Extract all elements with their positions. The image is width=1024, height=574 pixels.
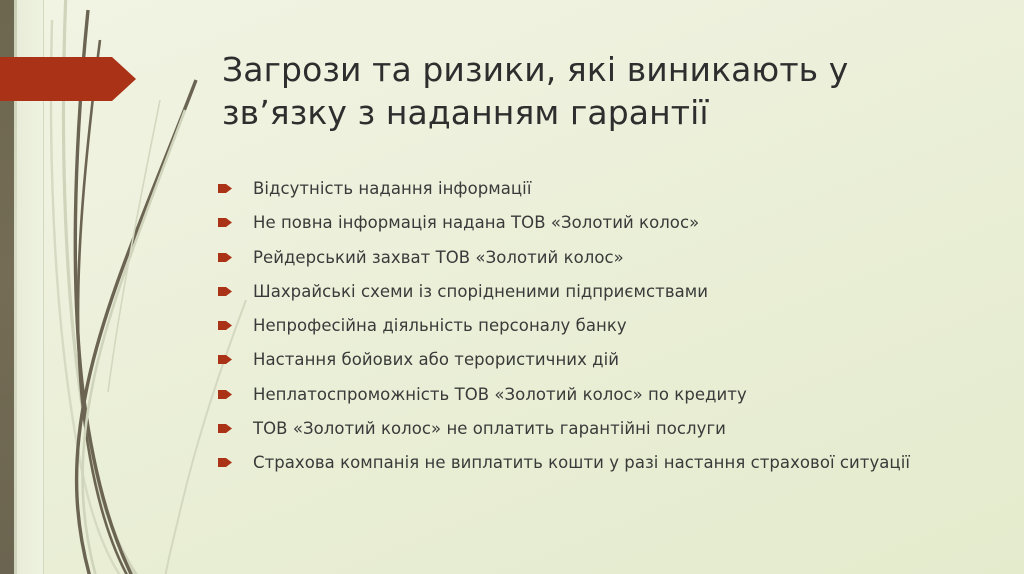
red-pennant-bullet-icon — [218, 354, 232, 365]
bullet-list: Відсутність надання інформації Не повна … — [218, 178, 1008, 486]
page-title: Загрози та ризики, які виникають у зв’яз… — [222, 49, 962, 135]
list-item-label: Відсутність надання інформації — [253, 178, 531, 200]
list-item: Страхова компанія не виплатить кошти у р… — [218, 452, 1008, 474]
red-pennant-bullet-icon — [218, 320, 232, 331]
red-pennant-bullet-icon — [218, 423, 232, 434]
list-item: Не повна інформація надана ТОВ «Золотий … — [218, 212, 1008, 234]
red-pennant-bullet-icon — [218, 457, 232, 468]
red-pennant-bullet-icon — [218, 217, 232, 228]
list-item-label: Рейдерський захват ТОВ «Золотий колос» — [253, 247, 624, 269]
list-item: Шахрайські схеми із спорідненими підприє… — [218, 281, 1008, 303]
list-item-label: Настання бойових або терористичних дій — [253, 349, 619, 371]
list-item-label: Страхова компанія не виплатить кошти у р… — [253, 452, 910, 474]
red-pennant-bullet-icon — [218, 389, 232, 400]
red-pennant-bullet-icon — [218, 183, 232, 194]
red-arrow-banner — [0, 57, 136, 101]
list-item-label: Шахрайські схеми із спорідненими підприє… — [253, 281, 708, 303]
list-item-label: Непрофесійна діяльність персоналу банку — [253, 315, 627, 337]
list-item: Відсутність надання інформації — [218, 178, 1008, 200]
list-item-label: Не повна інформація надана ТОВ «Золотий … — [253, 212, 699, 234]
red-pennant-bullet-icon — [218, 286, 232, 297]
list-item-label: Неплатоспроможність ТОВ «Золотий колос» … — [253, 384, 747, 406]
list-item: Непрофесійна діяльність персоналу банку — [218, 315, 1008, 337]
list-item: ТОВ «Золотий колос» не оплатить гарантій… — [218, 418, 1008, 440]
presentation-slide: Загрози та ризики, які виникають у зв’яз… — [0, 0, 1024, 574]
list-item: Настання бойових або терористичних дій — [218, 349, 1008, 371]
list-item-label: ТОВ «Золотий колос» не оплатить гарантій… — [253, 418, 726, 440]
red-pennant-bullet-icon — [218, 252, 232, 263]
list-item: Рейдерський захват ТОВ «Золотий колос» — [218, 247, 1008, 269]
list-item: Неплатоспроможність ТОВ «Золотий колос» … — [218, 384, 1008, 406]
